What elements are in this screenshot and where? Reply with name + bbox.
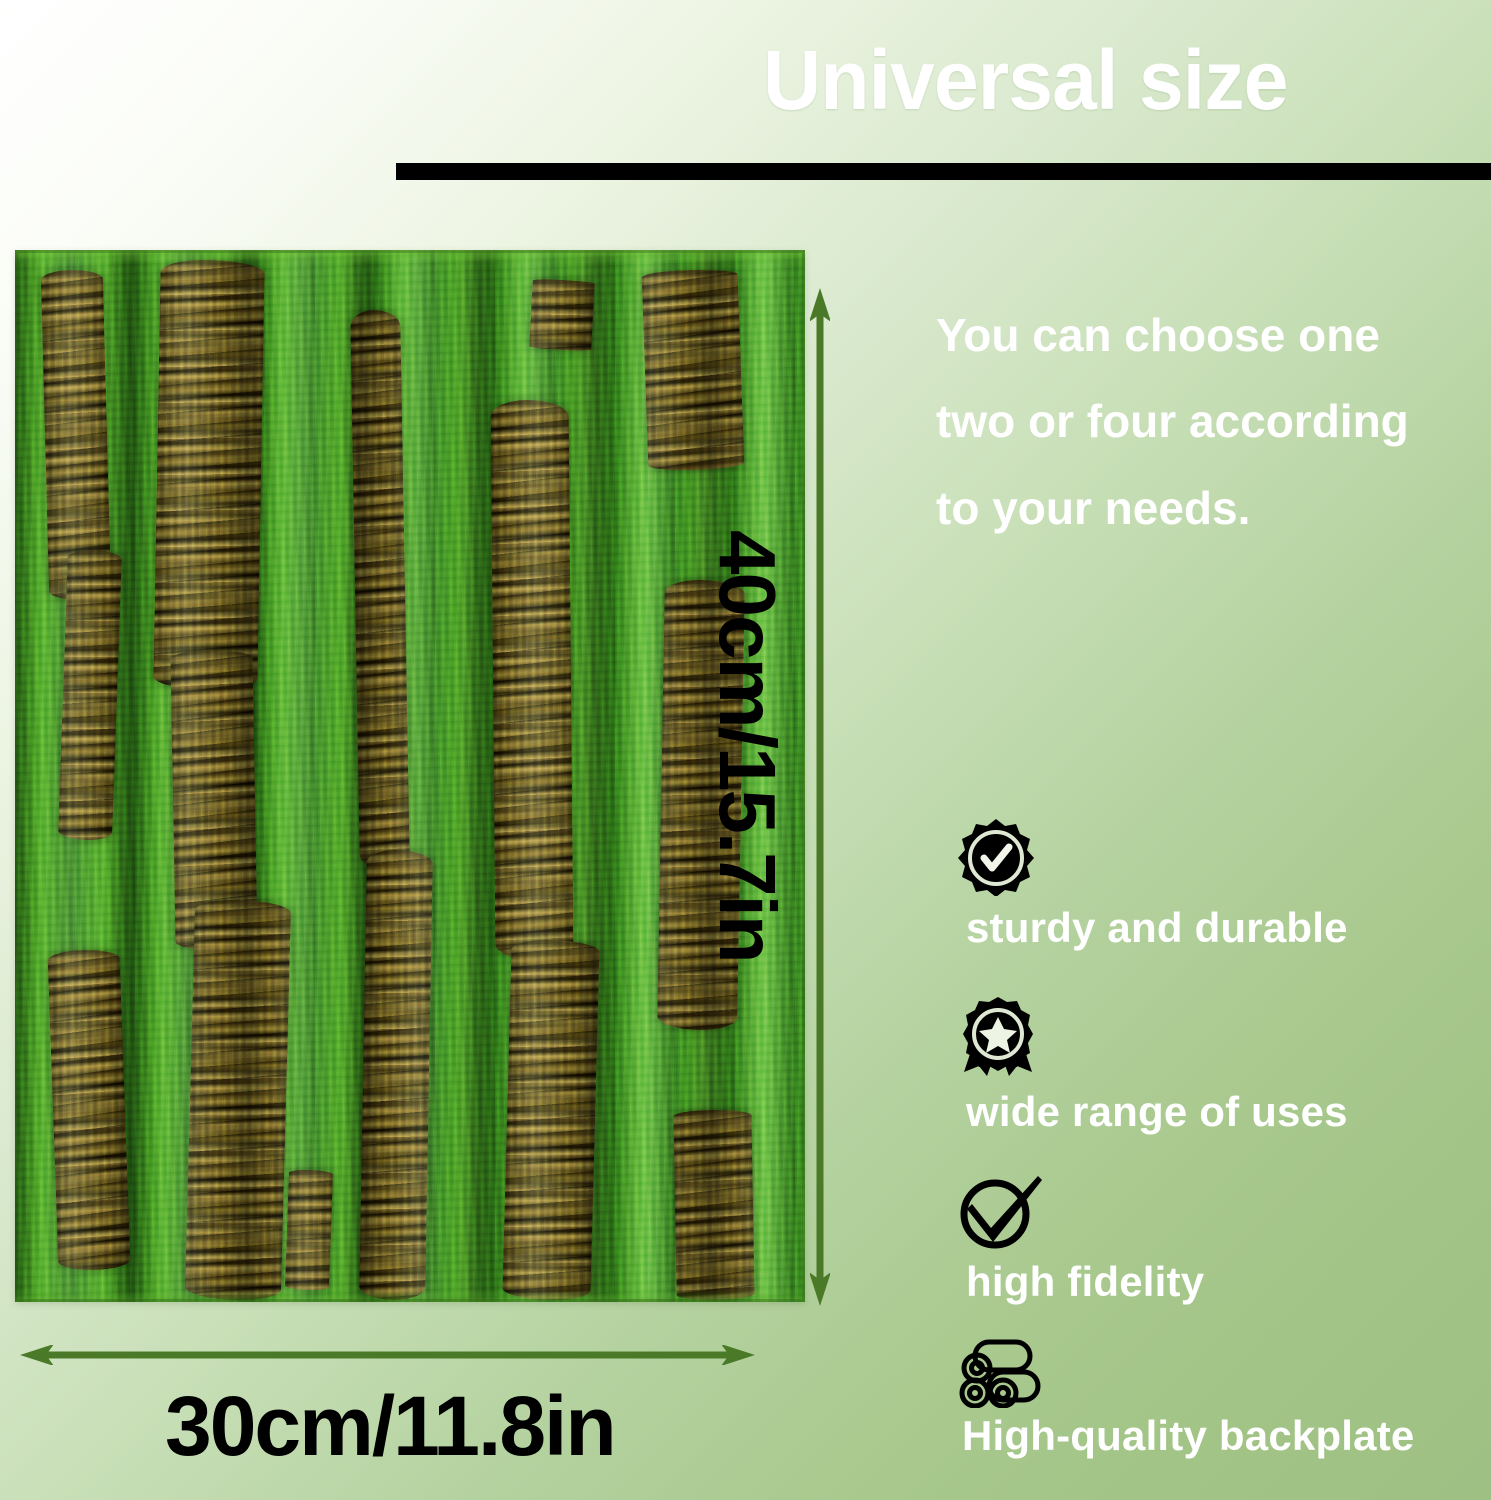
feature-label: High-quality backplate bbox=[962, 1412, 1414, 1460]
moss-edge bbox=[15, 250, 805, 1302]
page-title: Universal size bbox=[763, 38, 1435, 122]
feature-item-high-quality-backplate: High-quality backplate bbox=[958, 1336, 1042, 1408]
vertical-dimension-label: 40cm/15.7in bbox=[697, 530, 793, 960]
description-line-2: two or four according bbox=[936, 378, 1476, 464]
feature-label: wide range of uses bbox=[966, 1088, 1348, 1136]
feature-item-wide-range-of-uses: wide range of uses bbox=[960, 996, 1036, 1078]
circle-check-icon bbox=[960, 1176, 1042, 1250]
feature-item-sturdy-and-durable: sturdy and durable bbox=[958, 818, 1034, 896]
award-ribbon-icon bbox=[960, 996, 1036, 1078]
stacked-rolls-icon bbox=[958, 1336, 1042, 1408]
description-block: You can choose one two or four according… bbox=[936, 292, 1476, 551]
horizontal-dimension-label: 30cm/11.8in bbox=[165, 1378, 615, 1475]
title-divider bbox=[396, 163, 1491, 180]
horizontal-dimension-arrow bbox=[20, 1345, 755, 1365]
infographic-page: Universal size 40cm/15.7in 30cm/11.8 bbox=[0, 0, 1491, 1500]
feature-item-high-fidelity: high fidelity bbox=[960, 1176, 1042, 1250]
vertical-dimension-arrow bbox=[810, 288, 830, 1306]
badge-check-icon bbox=[958, 818, 1034, 896]
feature-label: high fidelity bbox=[966, 1258, 1204, 1306]
description-line-1: You can choose one bbox=[936, 292, 1476, 378]
product-image bbox=[15, 250, 805, 1302]
feature-label: sturdy and durable bbox=[966, 904, 1348, 952]
description-line-3: to your needs. bbox=[936, 465, 1476, 551]
